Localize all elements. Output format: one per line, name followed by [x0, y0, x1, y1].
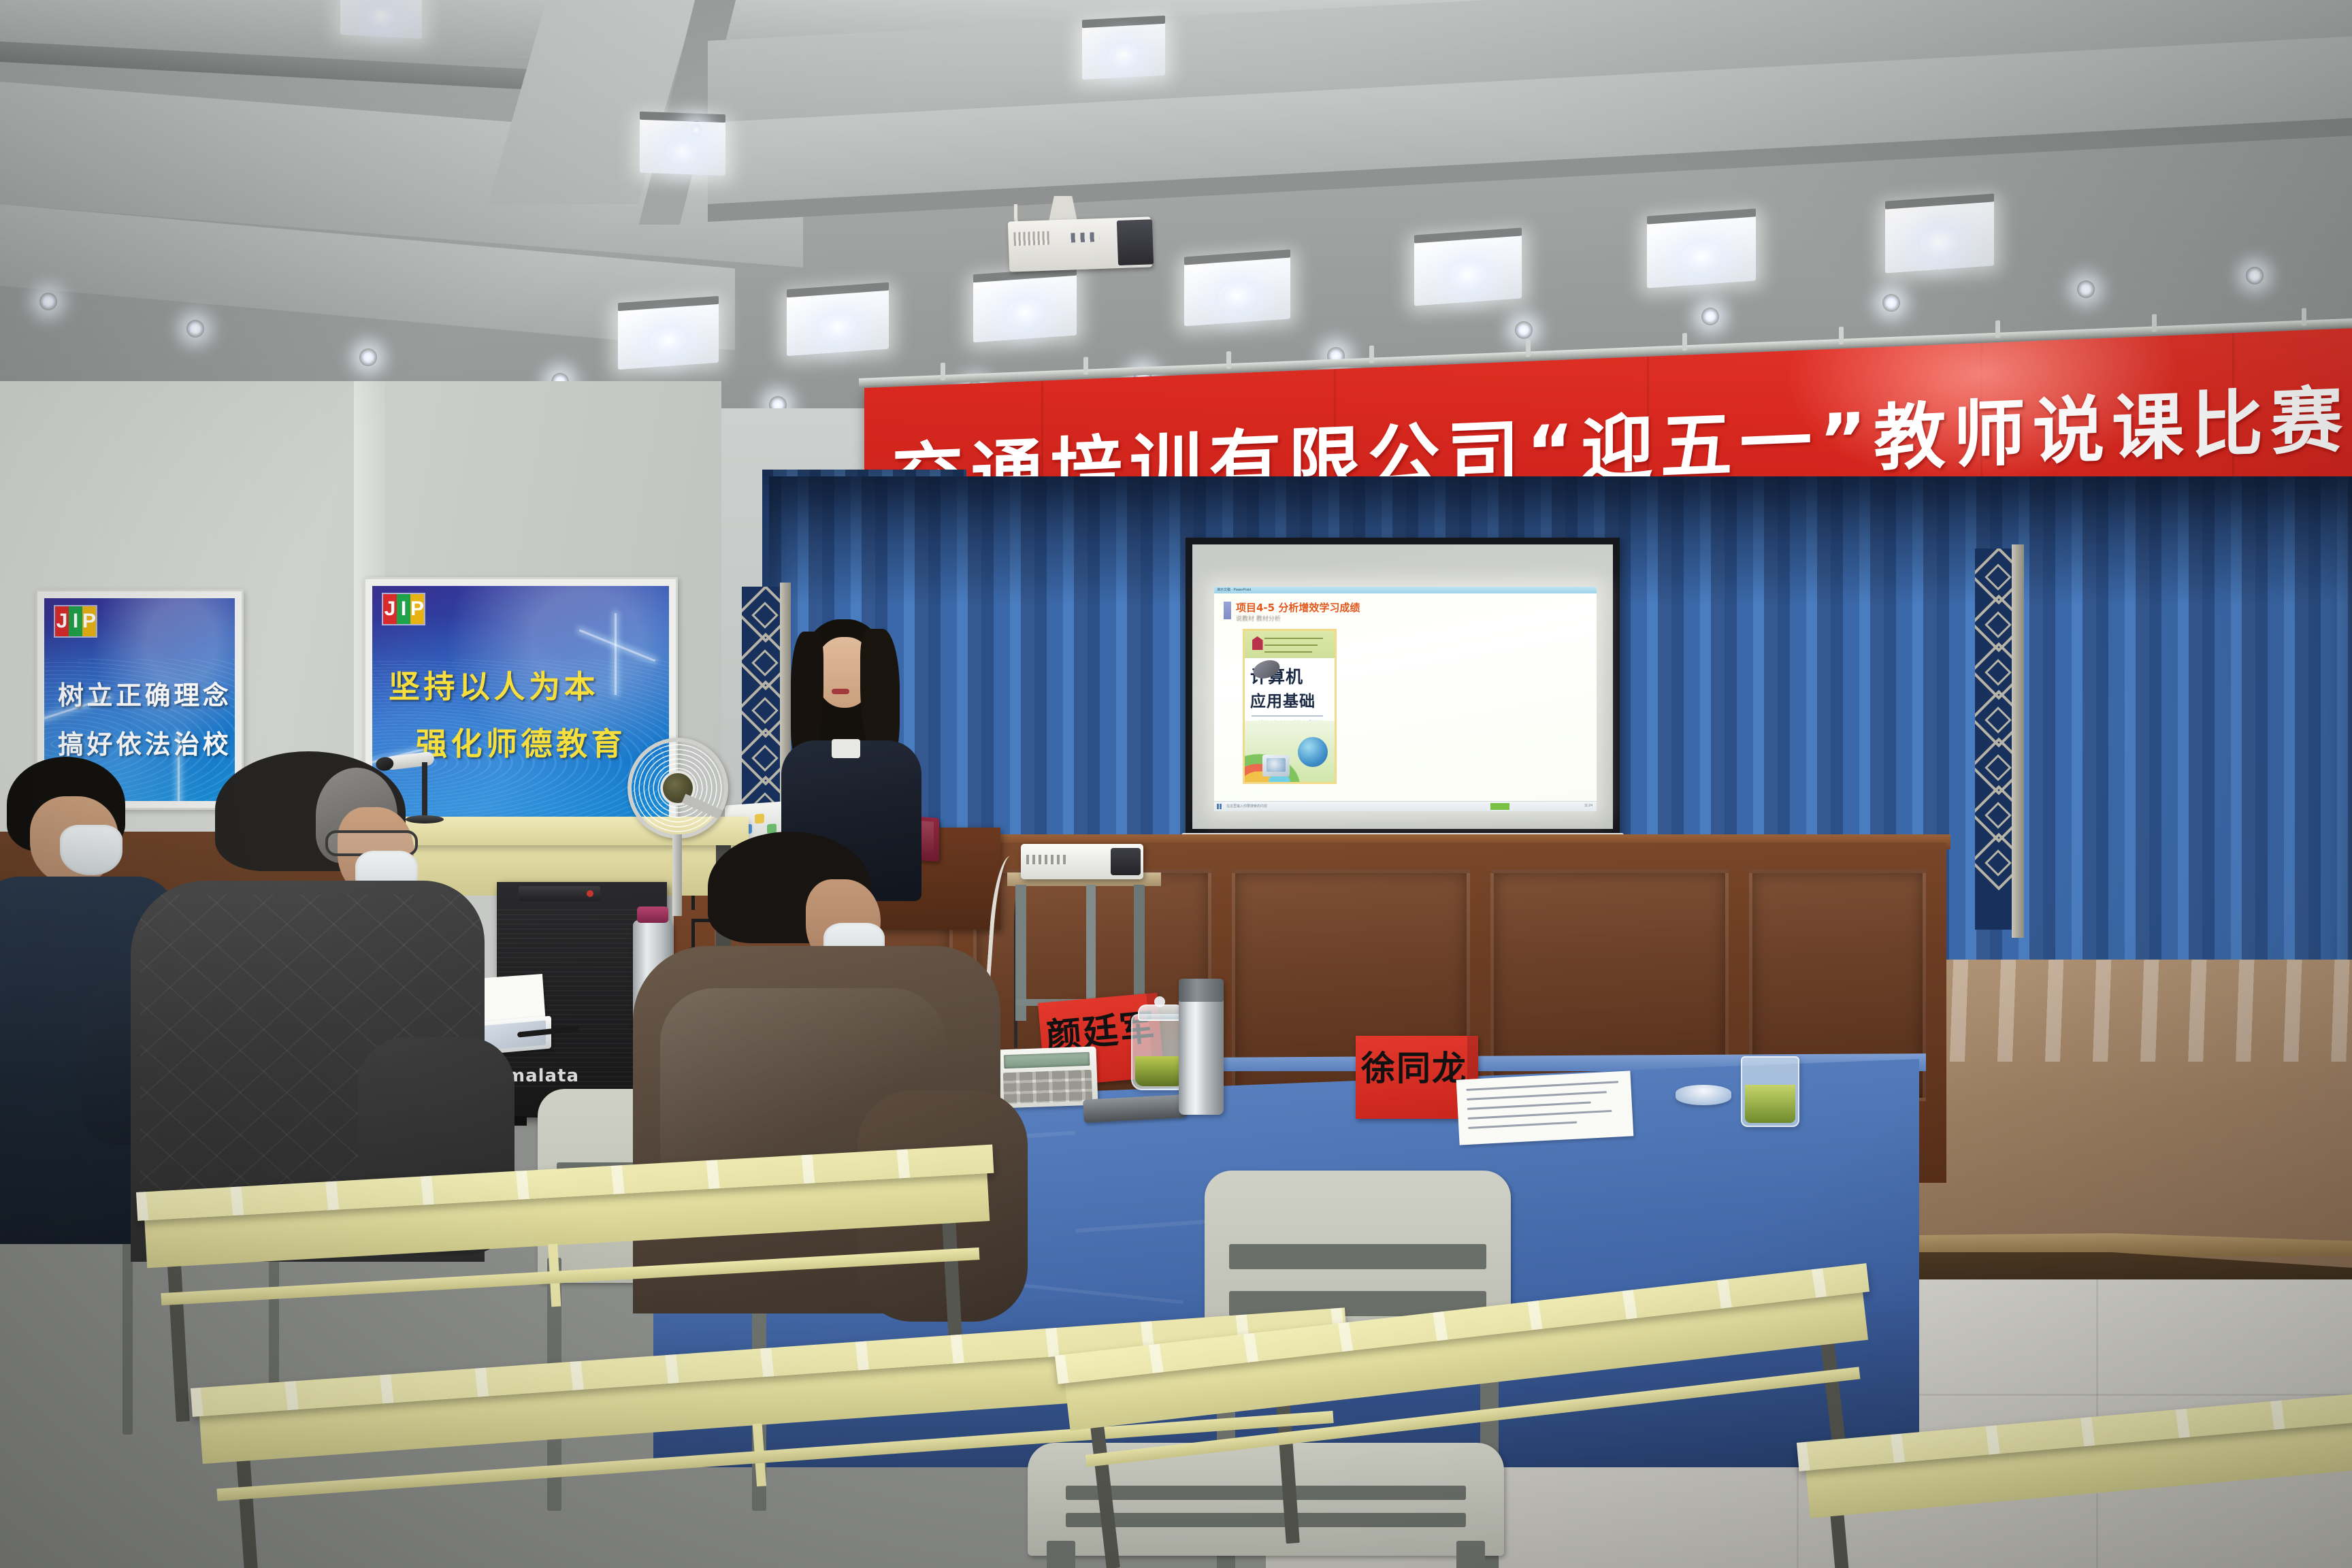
ceiling-downlight — [1515, 321, 1533, 339]
slide-title: 项目4-5 分析增效学习成绩 — [1236, 600, 1360, 615]
projection-screen-frame: 演示文稿 - PowerPoint 项目4-5 分析增效学习成绩 说教材 教材分… — [1186, 538, 1620, 836]
ceiling-panel-light — [1414, 234, 1522, 306]
jp-logo-icon: JIP — [383, 594, 424, 624]
ceiling-downlight — [2077, 280, 2095, 298]
decorative-trellis-right — [1975, 549, 2017, 930]
ceiling-panel-light — [1647, 215, 1756, 288]
slide-window-titlebar: 演示文稿 - PowerPoint — [1214, 587, 1597, 593]
ceiling-panel-light — [1885, 200, 1994, 273]
slide-accent-bar — [1224, 602, 1231, 619]
ceiling-projector-icon — [1008, 216, 1152, 272]
ceiling-panel-light — [1184, 257, 1290, 327]
ceiling-panel-light — [973, 274, 1077, 343]
ceiling-panel-light — [787, 289, 889, 356]
ceiling-downlight — [687, 121, 705, 139]
meeting-hall-photo: JIP 树立正确理念 搞好依法治校 JIP 坚持以人为本 强化师德教育 — [0, 0, 2352, 1568]
projected-slide: 演示文稿 - PowerPoint 项目4-5 分析增效学习成绩 说教材 教材分… — [1214, 587, 1597, 811]
face-mask-icon — [60, 825, 122, 875]
ceiling-panel-light — [340, 0, 422, 39]
poster-right-line1: 坚持以人为本 — [389, 662, 599, 707]
calculator-display — [1004, 1052, 1090, 1068]
score-sheet-paper — [1456, 1071, 1634, 1145]
ceiling-panel-light — [1082, 22, 1165, 80]
projection-screen: 演示文稿 - PowerPoint 项目4-5 分析增效学习成绩 说教材 教材分… — [1192, 544, 1613, 829]
poster-left-line1: 树立正确理念 — [58, 674, 231, 712]
textbook-cover-image: 计算机 应用基础 工业和信息化 高等职业教育 规划教材 主 编 XXX 副主编 … — [1243, 629, 1337, 784]
speaker-brand-label: malata — [506, 1066, 579, 1086]
trellis-post-right — [2012, 544, 2024, 938]
glass-tea-cup — [1741, 1056, 1799, 1127]
taskbar-clock: 11:24 — [1584, 804, 1592, 808]
ceiling-panel-light — [618, 303, 719, 370]
ceiling-downlight — [359, 348, 377, 366]
ceiling-downlight — [39, 293, 57, 310]
windows-start-icon — [1217, 804, 1222, 809]
taskbar-search-label: 在这里输入你要搜索的内容 — [1226, 804, 1267, 808]
ceiling-panel-light — [640, 118, 725, 176]
ceiling-downlight — [1882, 294, 1900, 312]
ceiling-downlight — [1701, 308, 1719, 325]
slide-window-caption: 演示文稿 - PowerPoint — [1217, 587, 1251, 592]
book-title-line2: 应用基础 — [1250, 688, 1330, 711]
glass-lid — [1676, 1085, 1731, 1105]
slide-taskbar: 在这里输入你要搜索的内容 11:24 — [1214, 801, 1597, 811]
ceiling-downlight — [2246, 267, 2264, 284]
slide-subtitle: 说教材 教材分析 — [1236, 614, 1281, 623]
table-projector-icon — [1021, 844, 1143, 879]
calculator-keys[interactable] — [1003, 1070, 1093, 1105]
steel-thermos — [1179, 979, 1224, 1115]
jp-logo-icon: JIP — [55, 606, 96, 636]
ceiling-downlight — [186, 320, 204, 338]
